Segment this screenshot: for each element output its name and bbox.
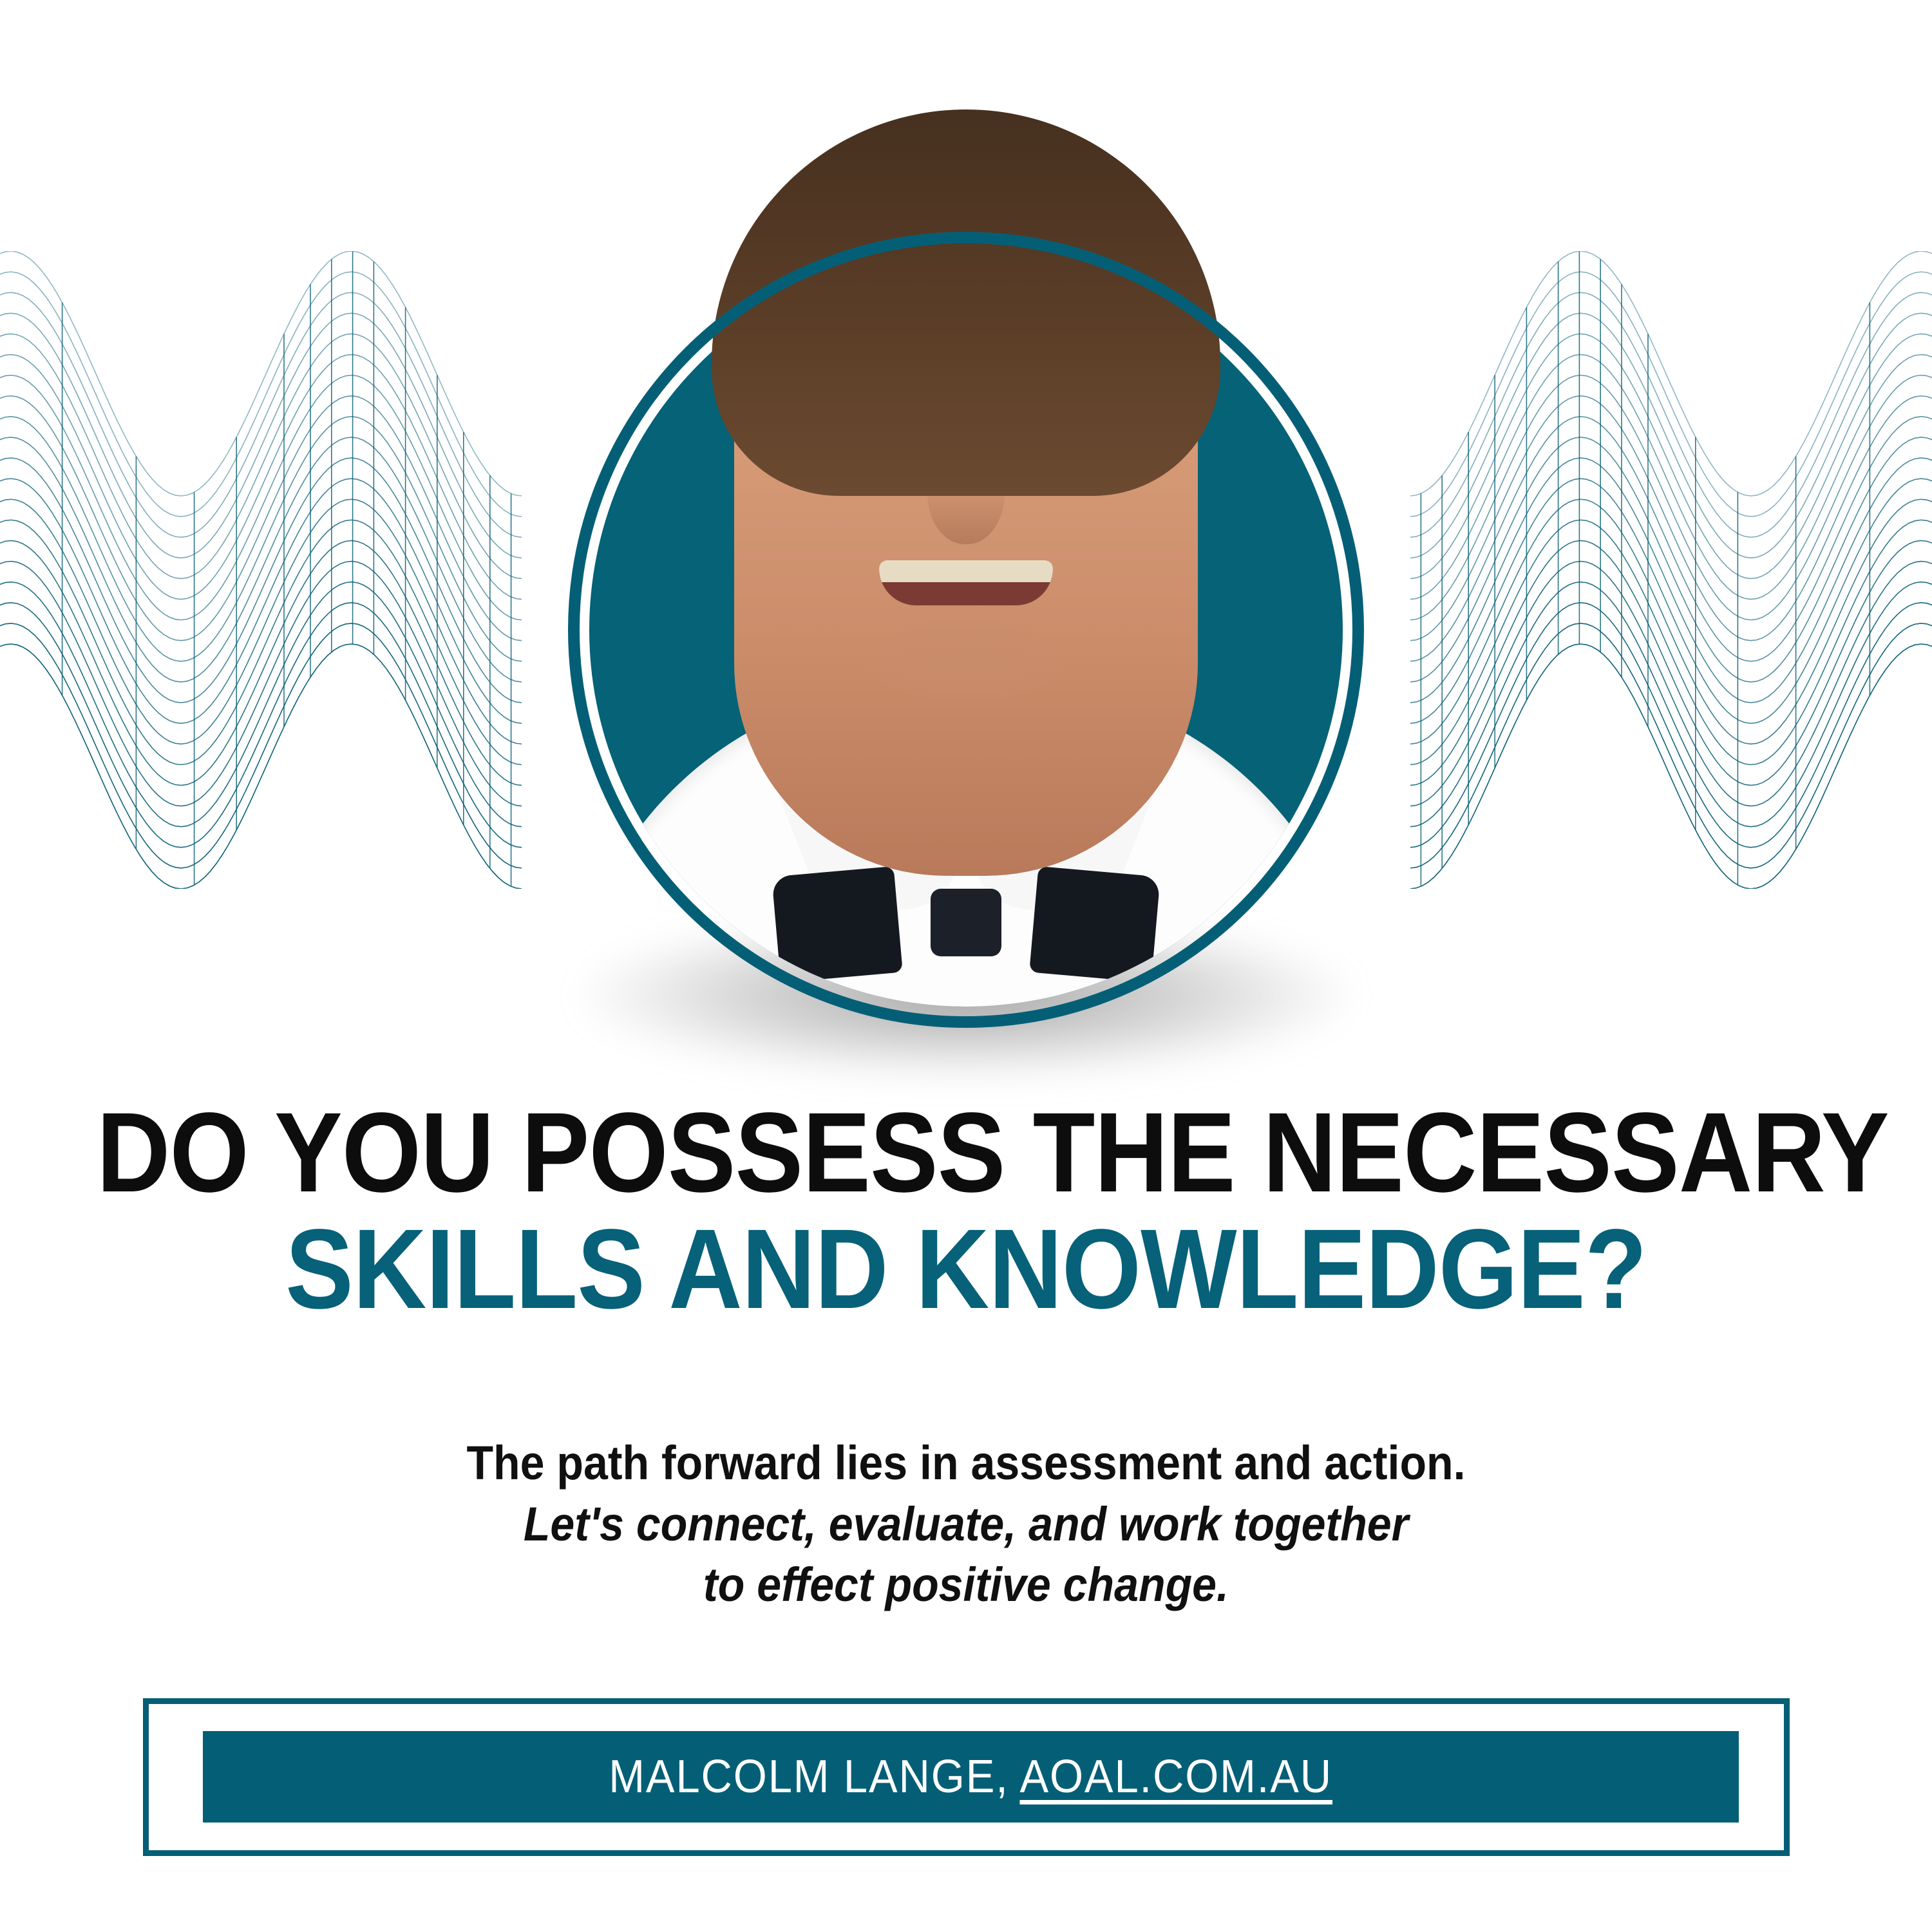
body-line-2: Let's connect, evaluate, and work togeth… xyxy=(77,1494,1855,1555)
body-copy: The path forward lies in assessment and … xyxy=(0,1433,1932,1616)
portrait-ring-border xyxy=(568,232,1364,1028)
wave-mesh-right-decoration xyxy=(1410,251,1932,889)
headline-line-2: SKILLS AND KNOWLEDGE? xyxy=(97,1211,1835,1328)
body-line-1: The path forward lies in assessment and … xyxy=(77,1433,1855,1494)
footer-bar: MALCOLM LANGE, AOAL.COM.AU xyxy=(203,1731,1739,1823)
poster-canvas: DO YOU POSSESS THE NECESSARY SKILLS AND … xyxy=(0,0,1932,1932)
footer-website-link[interactable]: AOAL.COM.AU xyxy=(1020,1751,1333,1803)
footer-name: MALCOLM LANGE, xyxy=(609,1751,1009,1803)
headline: DO YOU POSSESS THE NECESSARY SKILLS AND … xyxy=(0,1095,1932,1329)
wave-mesh-left-decoration xyxy=(0,251,522,889)
headline-line-1: DO YOU POSSESS THE NECESSARY xyxy=(97,1095,1835,1211)
body-line-3: to effect positive change. xyxy=(77,1555,1855,1616)
footer-credit: MALCOLM LANGE, AOAL.COM.AU xyxy=(609,1750,1333,1803)
portrait-block xyxy=(560,0,1372,1050)
